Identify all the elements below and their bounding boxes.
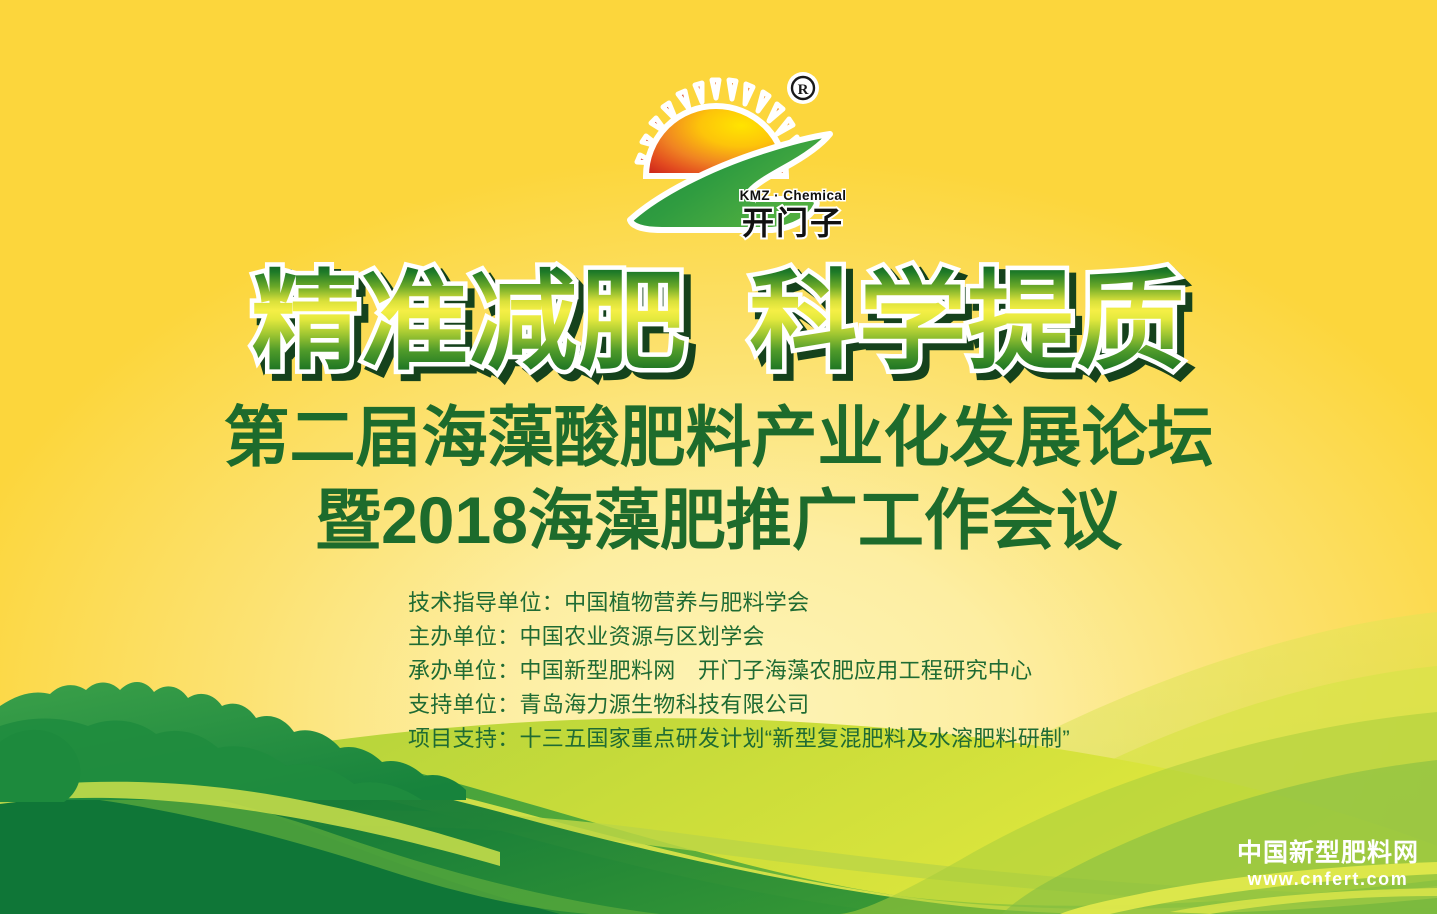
subtitle-line-1: 第二届海藻酸肥料产业化发展论坛 (0, 404, 1437, 470)
site-watermark: 中国新型肥料网 www.cnfert.com (1237, 838, 1419, 890)
conference-banner: R KMZ · Chemical 开门子 精准减肥 精准减肥 精准减肥 科学提质… (0, 0, 1437, 914)
org-line-host: 主办单位：中国农业资源与区划学会 (408, 622, 1148, 652)
kaimenzi-logo: R KMZ · Chemical 开门子 (616, 58, 846, 250)
svg-text:R: R (798, 82, 809, 98)
watermark-site-name: 中国新型肥料网 (1237, 838, 1419, 868)
organization-list: 技术指导单位：中国植物营养与肥料学会 主办单位：中国农业资源与区划学会 承办单位… (408, 588, 1148, 758)
subtitle-line-2: 暨2018海藻肥推广工作会议 (0, 487, 1437, 553)
logo-brand-en: KMZ · Chemical (740, 188, 846, 203)
logo-brand-cn: 开门子 (742, 205, 844, 241)
watermark-url: www.cnfert.com (1237, 868, 1419, 890)
headline-part2: 科学提质 科学提质 科学提质 (750, 268, 1186, 376)
org-line-project-support: 项目支持：十三五国家重点研发计划“新型复混肥料及水溶肥料研制” (408, 724, 1148, 754)
org-line-organizer: 承办单位：中国新型肥料网 开门子海藻农肥应用工程研究中心 (408, 656, 1148, 686)
org-line-technical-guidance: 技术指导单位：中国植物营养与肥料学会 (408, 588, 1148, 618)
headline-part1: 精准减肥 精准减肥 精准减肥 (251, 268, 687, 376)
page-title: 精准减肥 精准减肥 精准减肥 科学提质 科学提质 科学提质 (0, 268, 1437, 376)
org-line-supporter: 支持单位：青岛海力源生物科技有限公司 (408, 690, 1148, 720)
headline-part2-fill: 科学提质 (750, 261, 1186, 382)
registered-trademark-icon: R (787, 72, 819, 104)
headline-part1-fill: 精准减肥 (251, 261, 687, 382)
